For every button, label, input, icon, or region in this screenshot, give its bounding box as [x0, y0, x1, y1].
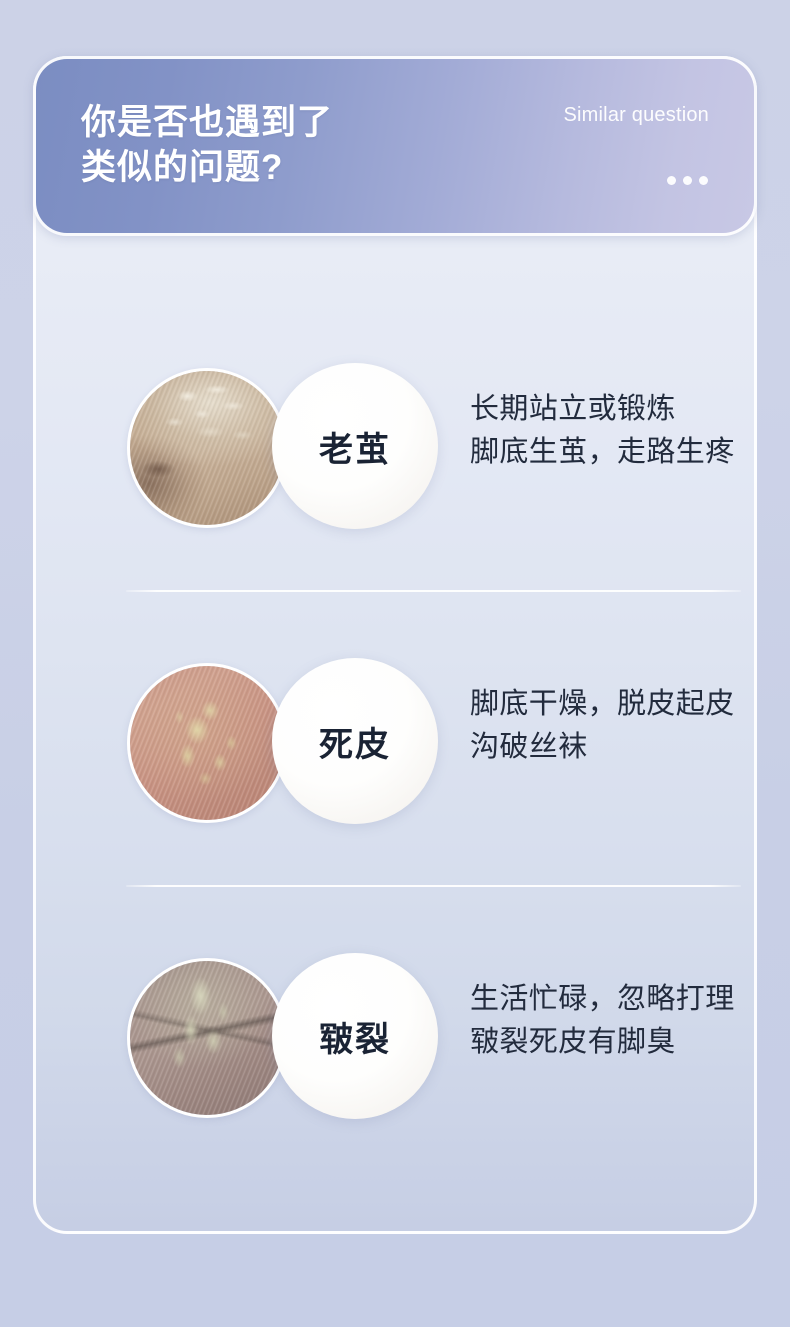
dead-skin-foot-photo	[127, 663, 287, 823]
row-divider	[126, 590, 741, 592]
skin-blotch-texture	[127, 958, 287, 1118]
list-item[interactable]: 皲裂 生活忙碌，忽略打理 皲裂死皮有脚臭	[69, 885, 757, 1180]
list-item[interactable]: 老茧 长期站立或锻炼 脚底生茧，走路生疼	[69, 295, 757, 590]
symptom-description: 生活忙碌，忽略打理 皲裂死皮有脚臭	[470, 978, 757, 1064]
symptom-label-badge: 老茧	[272, 363, 438, 529]
header-banner: 你是否也遇到了 类似的问题? Similar question	[33, 56, 757, 236]
symptom-label-badge: 皲裂	[272, 953, 438, 1119]
promo-page: 老茧 长期站立或锻炼 脚底生茧，走路生疼 死皮 脚底干燥，脱皮起皮 沟破丝袜	[0, 0, 790, 1327]
cracked-heel-photo	[127, 958, 287, 1118]
callus-foot-photo	[127, 368, 287, 528]
symptom-description: 脚底干燥，脱皮起皮 沟破丝袜	[470, 683, 757, 769]
symptom-label-text: 死皮	[319, 717, 391, 766]
symptom-list: 老茧 长期站立或锻炼 脚底生茧，走路生疼 死皮 脚底干燥，脱皮起皮 沟破丝袜	[69, 295, 757, 1180]
ellipsis-icon	[667, 176, 708, 185]
row-divider	[126, 885, 741, 887]
list-item[interactable]: 死皮 脚底干燥，脱皮起皮 沟破丝袜	[69, 590, 757, 885]
header-subtitle: Similar question	[519, 103, 709, 127]
symptom-description: 长期站立或锻炼 脚底生茧，走路生疼	[470, 388, 757, 474]
skin-blotch-texture	[127, 368, 287, 528]
symptom-label-text: 皲裂	[319, 1012, 391, 1061]
symptom-label-text: 老茧	[319, 422, 391, 471]
symptom-label-badge: 死皮	[272, 658, 438, 824]
page-title: 你是否也遇到了 类似的问题?	[81, 100, 333, 190]
skin-blotch-texture	[127, 663, 287, 823]
